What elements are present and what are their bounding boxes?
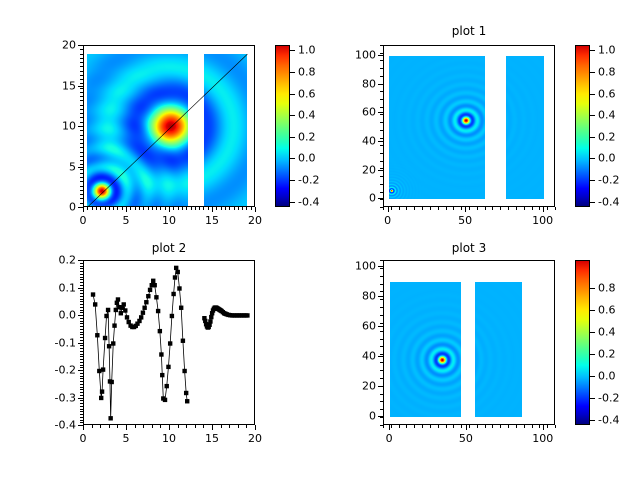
y-minor-tick	[80, 113, 83, 114]
y-minor-tick	[80, 378, 83, 379]
y-minor-tick	[380, 339, 383, 340]
y-major-tick	[378, 296, 383, 297]
y-minor-tick	[80, 323, 83, 324]
colorbar-tick-label: -0.2	[598, 174, 619, 187]
y-minor-tick	[80, 83, 83, 84]
x-tick-label: 10	[162, 214, 176, 227]
y-minor-tick	[80, 414, 83, 415]
y-minor-tick	[80, 356, 83, 357]
colorbar-tick	[590, 310, 595, 311]
y-minor-tick	[380, 346, 383, 347]
data-marker	[119, 311, 123, 315]
colorbar-tick	[590, 72, 595, 73]
y-minor-tick	[380, 192, 383, 193]
x-minor-tick	[430, 425, 431, 428]
colorbar-tick	[590, 354, 595, 355]
data-marker	[91, 292, 95, 296]
colorbar-tick-label: 0.0	[598, 369, 616, 382]
y-tick-label: 5	[35, 160, 76, 173]
y-minor-tick	[80, 156, 83, 157]
y-minor-tick	[80, 329, 83, 330]
data-marker	[95, 333, 99, 337]
x-minor-tick	[160, 207, 161, 210]
colorbar-tick-label: 0.4	[598, 325, 616, 338]
colorbar-tick-label: -0.4	[598, 195, 619, 208]
y-minor-tick	[380, 425, 383, 426]
y-major-tick	[378, 141, 383, 142]
y-minor-tick	[80, 326, 83, 327]
y-minor-tick	[380, 394, 383, 395]
x-minor-tick	[229, 207, 230, 210]
y-minor-tick	[80, 109, 83, 110]
x-minor-tick	[169, 207, 170, 210]
data-marker	[174, 266, 178, 270]
y-minor-tick	[80, 348, 83, 349]
x-minor-tick	[203, 425, 204, 428]
y-minor-tick	[380, 276, 383, 277]
x-minor-tick	[251, 207, 252, 210]
x-minor-tick	[500, 425, 501, 428]
heatmap-image-bottom-right	[384, 261, 555, 425]
y-major-tick	[378, 112, 383, 113]
x-minor-tick	[422, 425, 423, 428]
y-minor-tick	[80, 274, 83, 275]
data-marker	[159, 352, 163, 356]
y-minor-tick	[80, 177, 83, 178]
colorbar-tick	[590, 288, 595, 289]
y-minor-tick	[80, 351, 83, 352]
x-tick-label: 15	[205, 432, 219, 445]
data-marker	[104, 314, 108, 318]
colorbar-tick	[290, 94, 295, 95]
y-tick-label: 40	[335, 135, 376, 148]
y-tick-label: 60	[335, 106, 376, 119]
y-minor-tick	[380, 323, 383, 324]
y-tick-label: 0	[335, 192, 376, 205]
x-minor-tick	[391, 207, 392, 210]
data-marker	[122, 302, 126, 306]
y-minor-tick	[380, 199, 383, 200]
y-minor-tick	[380, 331, 383, 332]
data-marker	[208, 319, 212, 323]
data-marker	[182, 369, 186, 373]
x-minor-tick	[492, 425, 493, 428]
x-minor-tick	[186, 425, 187, 428]
y-minor-tick	[80, 279, 83, 280]
x-minor-tick	[446, 207, 447, 210]
data-marker	[163, 398, 167, 402]
y-minor-tick	[80, 398, 83, 399]
y-minor-tick	[380, 291, 383, 292]
colorbar-tick	[290, 50, 295, 51]
y-major-tick	[78, 167, 83, 168]
y-minor-tick	[380, 122, 383, 123]
line-path	[93, 268, 187, 418]
x-minor-tick	[208, 207, 209, 210]
y-minor-tick	[80, 312, 83, 313]
heatmap-image-top-right	[384, 46, 555, 207]
y-minor-tick	[80, 365, 83, 366]
y-minor-tick	[380, 176, 383, 177]
x-minor-tick	[139, 207, 140, 210]
colorbar-tick-label: 0.0	[598, 152, 616, 165]
y-minor-tick	[80, 384, 83, 385]
data-marker	[108, 416, 112, 420]
data-marker	[125, 315, 129, 319]
x-minor-tick	[461, 425, 462, 428]
y-minor-tick	[80, 411, 83, 412]
colorbar-tick-label: -0.2	[298, 174, 319, 187]
data-marker	[101, 367, 105, 371]
colorbar-tick-label: 0.2	[298, 130, 316, 143]
y-tick-label: 20	[335, 163, 376, 176]
x-tick-label: 15	[205, 214, 219, 227]
x-minor-tick	[130, 207, 131, 210]
y-tick-label: -0.3	[35, 391, 76, 404]
x-minor-tick	[255, 207, 256, 210]
y-minor-tick	[80, 49, 83, 50]
data-marker	[158, 329, 162, 333]
colorbar-tick-label: 0.2	[598, 347, 616, 360]
data-marker	[160, 373, 164, 377]
y-minor-tick	[80, 203, 83, 204]
y-minor-tick	[80, 373, 83, 374]
y-minor-tick	[80, 406, 83, 407]
y-minor-tick	[380, 84, 383, 85]
y-major-tick	[378, 170, 383, 171]
colorbar-tick	[590, 398, 595, 399]
x-major-tick	[543, 425, 544, 430]
y-minor-tick	[380, 107, 383, 108]
y-minor-tick	[80, 190, 83, 191]
colorbar-tick	[590, 137, 595, 138]
x-minor-tick	[477, 425, 478, 428]
x-minor-tick	[508, 207, 509, 210]
x-minor-tick	[234, 207, 235, 210]
panel-top-right-title: plot 1	[383, 24, 555, 38]
y-minor-tick	[80, 130, 83, 131]
colorbar-tick-label: 0.6	[298, 87, 316, 100]
axes-top-right	[383, 45, 555, 207]
colorbar-tick	[590, 420, 595, 421]
y-minor-tick	[80, 100, 83, 101]
colorbar-tick	[590, 376, 595, 377]
x-minor-tick	[238, 425, 239, 428]
data-marker	[141, 311, 145, 315]
y-minor-tick	[380, 184, 383, 185]
data-marker	[97, 369, 101, 373]
figure-canvas: 0510152005101520 -0.4-0.20.00.20.40.60.8…	[0, 0, 640, 480]
x-minor-tick	[135, 425, 136, 428]
colorbar-tick-label: 1.0	[598, 44, 616, 57]
x-minor-tick	[532, 207, 533, 210]
x-minor-tick	[516, 425, 517, 428]
x-minor-tick	[212, 425, 213, 428]
y-minor-tick	[80, 126, 83, 127]
y-tick-label: 20	[35, 39, 76, 52]
x-minor-tick	[109, 207, 110, 210]
y-tick-label: -0.1	[35, 336, 76, 349]
x-minor-tick	[469, 207, 470, 210]
colorbar-tick-label: 0.4	[598, 109, 616, 122]
colorbar-tick-label: 0.6	[598, 303, 616, 316]
data-marker	[123, 308, 127, 312]
data-marker	[111, 341, 115, 345]
y-minor-tick	[80, 307, 83, 308]
colorbar-tick	[290, 158, 295, 159]
y-minor-tick	[80, 79, 83, 80]
x-minor-tick	[117, 207, 118, 210]
data-marker	[209, 315, 213, 319]
y-minor-tick	[380, 307, 383, 308]
x-minor-tick	[422, 207, 423, 210]
data-marker	[99, 396, 103, 400]
y-tick-label: 0.1	[35, 281, 76, 294]
x-minor-tick	[165, 207, 166, 210]
y-minor-tick	[80, 117, 83, 118]
x-minor-tick	[105, 207, 106, 210]
data-marker	[166, 365, 170, 369]
x-minor-tick	[438, 425, 439, 428]
y-major-tick	[378, 326, 383, 327]
x-minor-tick	[430, 207, 431, 210]
y-minor-tick	[380, 76, 383, 77]
y-minor-tick	[80, 332, 83, 333]
y-minor-tick	[380, 168, 383, 169]
axes-bottom-right	[383, 260, 555, 425]
x-minor-tick	[500, 207, 501, 210]
x-minor-tick	[547, 207, 548, 210]
x-tick-label: 0	[384, 214, 391, 227]
x-minor-tick	[122, 207, 123, 210]
y-minor-tick	[80, 266, 83, 267]
x-minor-tick	[225, 207, 226, 210]
y-minor-tick	[80, 122, 83, 123]
data-marker	[154, 295, 158, 299]
y-minor-tick	[80, 277, 83, 278]
y-minor-tick	[80, 337, 83, 338]
data-marker	[176, 270, 180, 274]
colorbar-tick	[590, 50, 595, 51]
y-minor-tick	[80, 75, 83, 76]
y-minor-tick	[80, 420, 83, 421]
y-minor-tick	[380, 386, 383, 387]
x-minor-tick	[221, 207, 222, 210]
y-minor-tick	[80, 400, 83, 401]
x-minor-tick	[143, 425, 144, 428]
y-minor-tick	[80, 387, 83, 388]
x-minor-tick	[191, 207, 192, 210]
y-minor-tick	[80, 340, 83, 341]
data-marker	[116, 297, 120, 301]
colorbar-tick	[590, 180, 595, 181]
colorbar-top-right	[575, 45, 590, 207]
x-tick-label: 50	[459, 432, 473, 445]
panel-top-right: plot 1 050100020406080100 -0.4-0.20.00.2…	[320, 0, 640, 240]
y-minor-tick	[80, 290, 83, 291]
colorbar-tick-label: -0.2	[598, 391, 619, 404]
y-minor-tick	[380, 284, 383, 285]
y-minor-tick	[80, 403, 83, 404]
x-minor-tick	[555, 207, 556, 210]
y-minor-tick	[80, 282, 83, 283]
x-minor-tick	[83, 425, 84, 428]
data-marker	[185, 399, 189, 403]
y-minor-tick	[80, 315, 83, 316]
x-minor-tick	[221, 425, 222, 428]
x-major-tick	[388, 207, 389, 212]
data-marker	[179, 306, 183, 310]
y-minor-tick	[380, 260, 383, 261]
y-minor-tick	[380, 354, 383, 355]
colorbar-tick	[590, 158, 595, 159]
x-minor-tick	[195, 425, 196, 428]
x-minor-tick	[246, 207, 247, 210]
x-tick-label: 50	[458, 214, 472, 227]
x-minor-tick	[182, 207, 183, 210]
data-marker	[93, 302, 97, 306]
y-minor-tick	[80, 181, 83, 182]
panel-bottom-left: plot 2 05101520-0.4-0.3-0.2-0.10.00.10.2	[0, 240, 320, 480]
x-minor-tick	[532, 425, 533, 428]
y-minor-tick	[80, 417, 83, 418]
x-minor-tick	[406, 425, 407, 428]
y-tick-label: -0.4	[35, 419, 76, 432]
y-minor-tick	[80, 160, 83, 161]
y-minor-tick	[80, 370, 83, 371]
colorbar-tick-label: -0.4	[598, 413, 619, 426]
y-major-tick	[378, 55, 383, 56]
y-tick-label: 20	[335, 380, 376, 393]
y-tick-label: 80	[335, 290, 376, 303]
x-major-tick	[543, 207, 544, 212]
x-minor-tick	[216, 207, 217, 210]
y-minor-tick	[80, 318, 83, 319]
y-tick-label: 100	[335, 260, 376, 273]
panel-bottom-left-title: plot 2	[83, 241, 255, 255]
colorbar-tick	[290, 137, 295, 138]
y-minor-tick	[80, 135, 83, 136]
x-minor-tick	[524, 425, 525, 428]
x-tick-label: 20	[248, 432, 262, 445]
y-minor-tick	[380, 207, 383, 208]
x-minor-tick	[92, 425, 93, 428]
y-minor-tick	[380, 145, 383, 146]
x-tick-label: 0	[80, 432, 87, 445]
x-minor-tick	[126, 207, 127, 210]
y-minor-tick	[380, 315, 383, 316]
x-minor-tick	[492, 207, 493, 210]
x-minor-tick	[414, 207, 415, 210]
y-minor-tick	[80, 422, 83, 423]
y-minor-tick	[80, 362, 83, 363]
x-minor-tick	[178, 207, 179, 210]
colorbar-tick-label: 0.0	[298, 152, 316, 165]
axes-bottom-left	[83, 260, 255, 425]
x-minor-tick	[173, 207, 174, 210]
y-minor-tick	[80, 260, 83, 261]
x-minor-tick	[399, 425, 400, 428]
data-marker	[168, 341, 172, 345]
y-tick-label: 0.2	[35, 254, 76, 267]
y-minor-tick	[80, 173, 83, 174]
y-minor-tick	[380, 417, 383, 418]
y-tick-label: 40	[335, 350, 376, 363]
x-minor-tick	[555, 425, 556, 428]
y-minor-tick	[80, 321, 83, 322]
y-minor-tick	[80, 58, 83, 59]
x-minor-tick	[539, 425, 540, 428]
data-marker	[173, 275, 177, 279]
x-minor-tick	[135, 207, 136, 210]
x-minor-tick	[255, 425, 256, 428]
x-minor-tick	[199, 207, 200, 210]
x-tick-label: 0	[386, 432, 393, 445]
x-tick-label: 20	[248, 214, 262, 227]
y-minor-tick	[80, 285, 83, 286]
x-minor-tick	[242, 207, 243, 210]
x-minor-tick	[399, 207, 400, 210]
y-minor-tick	[80, 152, 83, 153]
y-tick-label: 10	[35, 120, 76, 133]
x-minor-tick	[383, 207, 384, 210]
y-major-tick	[78, 86, 83, 87]
x-minor-tick	[438, 207, 439, 210]
overlay-diagonal-path	[87, 54, 248, 207]
y-tick-label: 0	[335, 410, 376, 423]
colorbar-tick	[290, 115, 295, 116]
panel-bottom-right-title: plot 3	[383, 241, 555, 255]
x-minor-tick	[547, 425, 548, 428]
y-tick-label: 0	[35, 201, 76, 214]
y-minor-tick	[380, 138, 383, 139]
x-major-tick	[466, 425, 467, 430]
y-tick-label: 15	[35, 79, 76, 92]
y-minor-tick	[80, 334, 83, 335]
panel-bottom-right: plot 3 050100020406080100 -0.4-0.20.00.2…	[320, 240, 640, 480]
colorbar-tick	[290, 202, 295, 203]
y-minor-tick	[80, 164, 83, 165]
data-marker	[165, 384, 169, 388]
x-minor-tick	[477, 207, 478, 210]
x-minor-tick	[485, 207, 486, 210]
x-minor-tick	[453, 207, 454, 210]
colorbar-tick-label: -0.4	[298, 195, 319, 208]
y-minor-tick	[380, 362, 383, 363]
y-minor-tick	[80, 409, 83, 410]
x-minor-tick	[238, 207, 239, 210]
colorbar-tick-label: 0.6	[598, 87, 616, 100]
colorbar-tick-label: 0.8	[598, 281, 616, 294]
x-tick-label: 5	[123, 432, 130, 445]
y-minor-tick	[380, 370, 383, 371]
x-minor-tick	[195, 207, 196, 210]
data-marker	[100, 389, 104, 393]
y-major-tick	[378, 356, 383, 357]
x-tick-label: 10	[162, 432, 176, 445]
data-marker	[106, 308, 110, 312]
y-minor-tick	[380, 409, 383, 410]
y-minor-tick	[80, 105, 83, 106]
x-minor-tick	[212, 207, 213, 210]
x-minor-tick	[117, 425, 118, 428]
y-minor-tick	[80, 288, 83, 289]
y-minor-tick	[380, 114, 383, 115]
x-minor-tick	[453, 425, 454, 428]
y-minor-tick	[80, 367, 83, 368]
y-minor-tick	[80, 389, 83, 390]
y-minor-tick	[80, 62, 83, 63]
